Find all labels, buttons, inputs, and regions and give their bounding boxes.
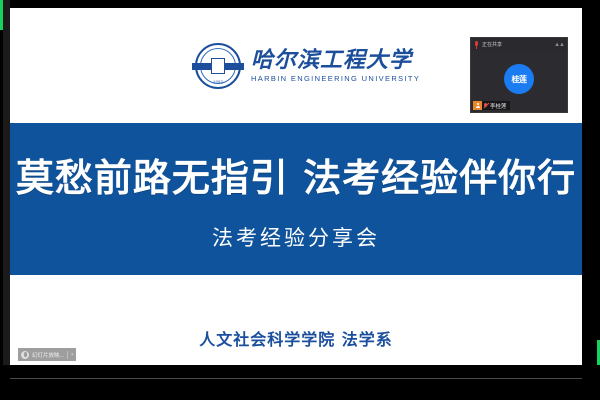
mic-recording-icon xyxy=(474,41,479,49)
video-conference-panel[interactable]: 正在共享 ▲▲ 桂莲 李桂莲 xyxy=(470,37,568,113)
university-name-en: HARBIN ENGINEERING UNIVERSITY xyxy=(251,74,420,83)
avatar: 桂莲 xyxy=(504,64,534,94)
video-panel-title: 正在共享 xyxy=(482,41,551,48)
chevron-right-icon[interactable]: › xyxy=(71,352,73,358)
video-tile[interactable]: 桂莲 李桂莲 xyxy=(471,51,567,112)
host-person-icon xyxy=(473,101,482,110)
slide-subtitle: 法考经验分享会 xyxy=(212,222,380,252)
video-panel-header[interactable]: 正在共享 ▲▲ xyxy=(471,38,567,51)
tooltip-divider xyxy=(67,351,68,359)
participant-nameplate: 李桂莲 xyxy=(473,101,510,110)
seal-year-label: 1953 xyxy=(195,79,241,84)
department-label: 人文社会科学学院 法学系 xyxy=(10,326,582,350)
chevron-collapse-icon[interactable]: ▲▲ xyxy=(554,42,564,48)
edge-accent-left xyxy=(0,0,3,30)
taskbar-divider xyxy=(10,378,582,379)
university-logo: 1953 哈尔滨工程大学 HARBIN ENGINEERING UNIVERSI… xyxy=(195,30,410,102)
university-seal-icon: 1953 xyxy=(195,43,241,89)
pointer-icon xyxy=(21,351,29,359)
university-name-cn: 哈尔滨工程大学 xyxy=(251,49,420,71)
desktop-background xyxy=(0,365,600,400)
slide-title: 莫愁前路无指引 法考经验伴你行 xyxy=(16,147,576,202)
mic-muted-icon xyxy=(482,101,489,110)
window-chrome-left xyxy=(3,0,10,400)
title-banner: 莫愁前路无指引 法考经验伴你行 法考经验分享会 xyxy=(10,123,582,275)
window-chrome-top xyxy=(0,0,600,8)
presenter-tooltip[interactable]: 幻灯片放映... › xyxy=(18,348,76,361)
screen-root: 1953 哈尔滨工程大学 HARBIN ENGINEERING UNIVERSI… xyxy=(0,0,600,400)
participant-name: 李桂莲 xyxy=(489,102,510,110)
presenter-tooltip-label: 幻灯片放映... xyxy=(32,351,64,359)
